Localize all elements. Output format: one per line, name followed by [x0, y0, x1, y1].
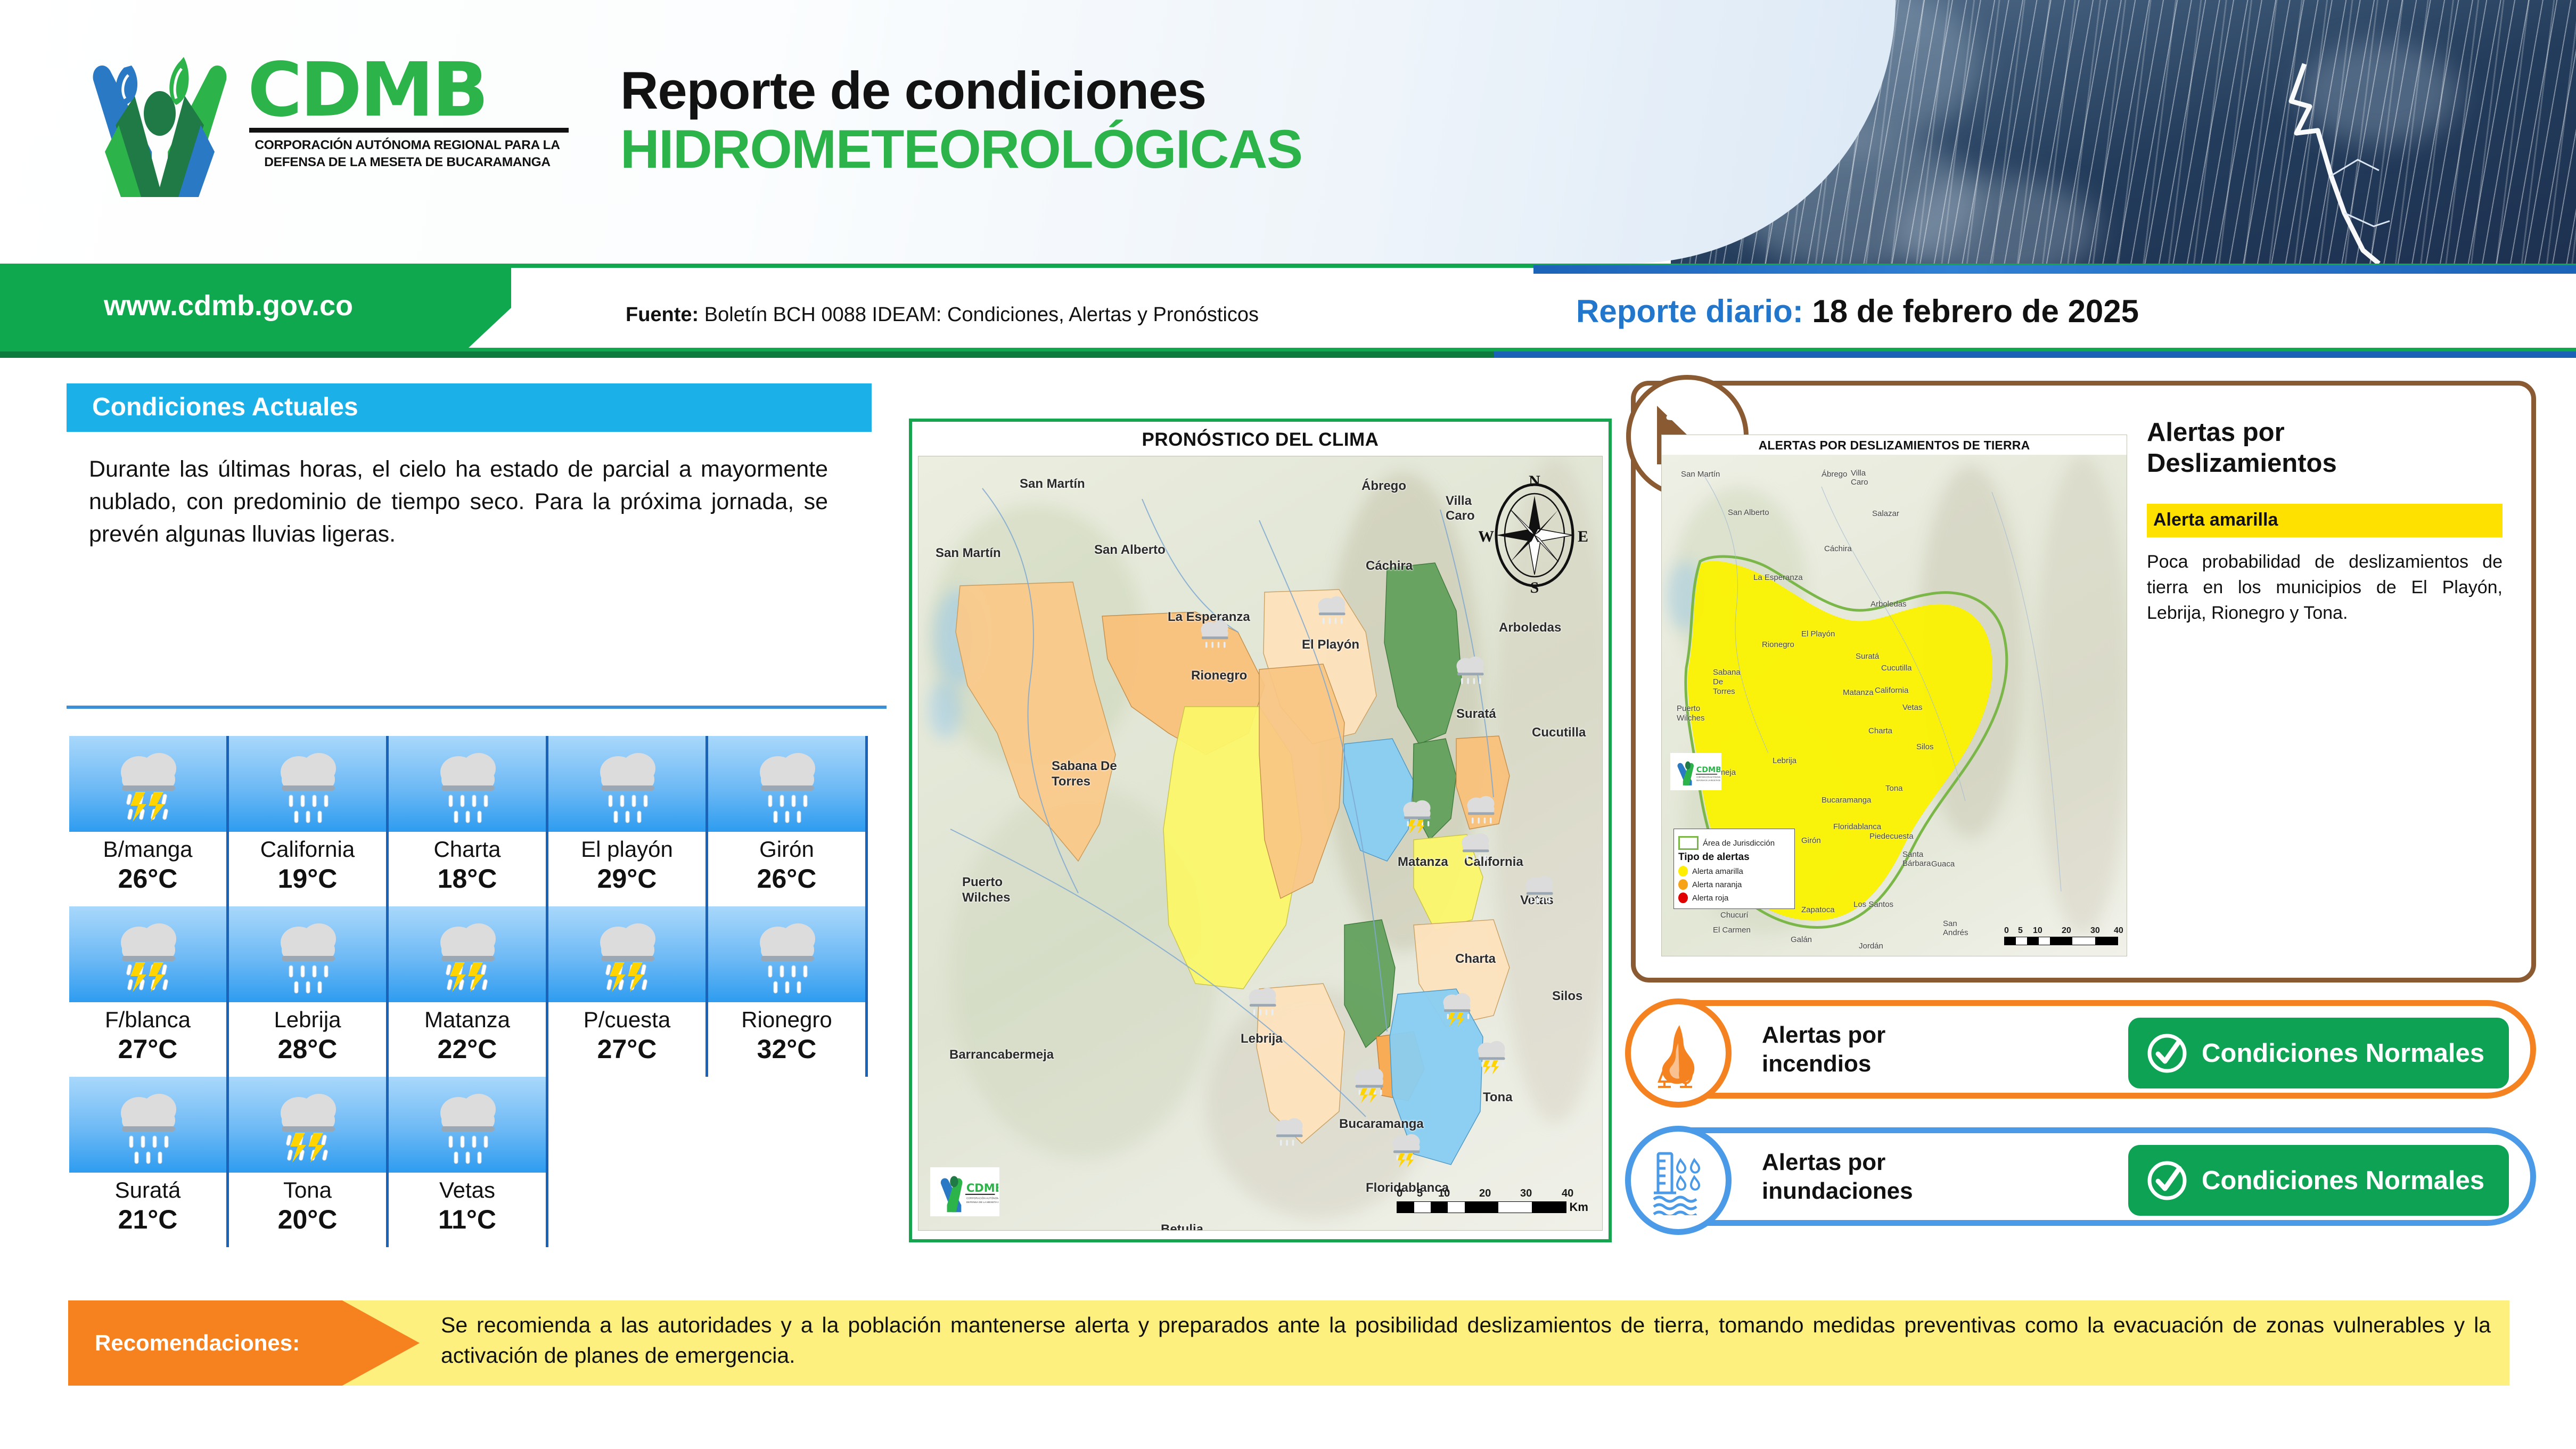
rain-icon — [708, 736, 865, 832]
report-date-value: 18 de febrero de 2025 — [1812, 293, 2139, 329]
map-label: Arboledas — [1499, 620, 1561, 635]
forecast-city: El playón — [548, 837, 705, 862]
flood-alert-label-line1: Alertas por — [1762, 1148, 1913, 1177]
forecast-city: B/manga — [69, 837, 226, 862]
logo-subtitle-line1: CORPORACIÓN AUTÓNOMA REGIONAL PARA LA — [248, 137, 567, 154]
rain-icon — [389, 1077, 546, 1173]
title-line-1: Reporte de condiciones — [620, 64, 1302, 117]
rain-icon — [69, 1077, 226, 1173]
storm-icon — [548, 906, 705, 1002]
legend-label: Área de Jurisdicción — [1703, 839, 1775, 848]
landslide-text-block: Alertas por Deslizamientos Alerta amaril… — [2147, 417, 2520, 626]
rain-icon — [1195, 616, 1234, 658]
map-label: Sabana De Torres — [1052, 759, 1121, 790]
map-label: Bucaramanga — [1339, 1117, 1424, 1132]
compass-n: N — [1529, 472, 1540, 490]
rain-icon — [1456, 829, 1495, 871]
forecast-city: P/cuesta — [548, 1008, 705, 1032]
climate-map-panel: PRONÓSTICO DEL CLIMA — [909, 419, 1612, 1242]
scale-tick-labels: 0 5 10 20 30 40 — [1397, 1188, 1588, 1200]
svg-text:DEFENSA DE LA MESETA DE BUCARA: DEFENSA DE LA MESETA DE BUCARAMANGA — [966, 1201, 998, 1204]
rain-icon — [708, 906, 865, 1002]
landslide-map-label: El Playón — [1801, 629, 1835, 638]
map-label: Betulia — [1161, 1222, 1203, 1231]
forecast-cell[interactable]: F/blanca 27°C — [69, 906, 229, 1077]
forecast-cell[interactable]: Tona 20°C — [229, 1077, 389, 1247]
forecast-grid: B/manga 26°C California — [69, 736, 901, 1247]
source-text: Fuente: Boletín BCH 0088 IDEAM: Condicio… — [626, 304, 1259, 326]
fire-alert-label: Alertas por incendios — [1762, 1021, 1885, 1078]
scale-tick: 40 — [2114, 926, 2123, 936]
landslide-map-label: Vetas — [1902, 703, 1923, 712]
svg-text:CDMB: CDMB — [966, 1181, 998, 1194]
landslide-map-label: La Esperanza — [1753, 573, 1803, 582]
forecast-temp: 26°C — [708, 864, 865, 895]
fire-icon — [1625, 998, 1732, 1108]
forecast-cell[interactable]: Suratá 21°C — [69, 1077, 229, 1247]
landslide-map-label: San Alberto — [1728, 508, 1769, 517]
landslide-legend: Área de Jurisdicción Tipo de alertas Ale… — [1673, 829, 1795, 909]
landslide-map-canvas[interactable]: San Martín Ábrego Villa Caro San Alberto… — [1662, 455, 2127, 956]
landslide-map-label: Suratá — [1856, 652, 1879, 661]
scale-tick: 5 — [2018, 926, 2023, 936]
rain-icon — [1312, 592, 1351, 634]
fire-alert-status-text: Condiciones Normales — [2202, 1038, 2484, 1068]
current-conditions-section: Condiciones Actuales Durante las últimas… — [67, 383, 897, 551]
svg-text:CDMB: CDMB — [1696, 766, 1720, 774]
landslide-map-label: Guaca — [1931, 859, 1955, 869]
recommendations-label: Recomendaciones: — [68, 1330, 300, 1356]
storm-icon — [69, 906, 226, 1002]
landslide-map-label: Rionegro — [1762, 640, 1794, 649]
scale-tick: 20 — [2062, 926, 2071, 936]
current-conditions-text: Durante las últimas horas, el cielo ha e… — [67, 432, 849, 551]
fire-alert-card[interactable]: Alertas por incendios Condiciones Normal… — [1631, 1000, 2536, 1099]
rain-icon — [548, 736, 705, 832]
forecast-cell[interactable]: B/manga 26°C — [69, 736, 229, 906]
landslide-alert-panel: ALERTAS POR DESLIZAMIENTOS DE TIERRA San… — [1631, 381, 2536, 983]
landslide-map-label: Floridablanca — [1833, 822, 1881, 831]
storm-icon — [1472, 1037, 1511, 1078]
landslide-map-label: Arboledas — [1871, 600, 1907, 609]
climate-map-canvas[interactable]: San Martín San Martín San Alberto Ábrego… — [918, 456, 1603, 1231]
landslide-map-label: California — [1875, 686, 1908, 695]
scale-tick: 0 — [1397, 1188, 1402, 1200]
forecast-temp: 18°C — [389, 864, 546, 895]
landslide-scale-bar: 0 5 10 20 30 40 — [2004, 926, 2121, 945]
landslide-map-label: Ábrego — [1822, 470, 1847, 479]
map-label: Ábrego — [1361, 479, 1406, 494]
forecast-city: Girón — [708, 837, 865, 862]
landslide-map-label: Galán — [1791, 935, 1812, 944]
forecast-city: Tona — [229, 1178, 386, 1202]
scale-strip — [1397, 1201, 1566, 1213]
landslide-map-label: Tona — [1885, 784, 1903, 793]
forecast-temp: 28°C — [229, 1034, 386, 1065]
forecast-temp: 29°C — [548, 864, 705, 895]
report-date-label: Reporte diario: — [1576, 293, 1803, 329]
scale-tick: 40 — [1562, 1188, 1573, 1200]
storm-icon — [1438, 989, 1476, 1030]
storm-icon — [69, 736, 226, 832]
rain-icon — [1520, 872, 1558, 913]
orange-alert-swatch — [1678, 879, 1688, 890]
forecast-cell[interactable]: Charta 18°C — [389, 736, 548, 906]
forecast-city: California — [229, 837, 386, 862]
recommendations-text: Se recomienda a las autoridades y a la p… — [441, 1310, 2491, 1370]
landslide-map-label: San Andrés — [1943, 919, 1964, 938]
forecast-row: F/blanca 27°C Lebrija 2 — [69, 906, 901, 1077]
alert-level-badge: Alerta amarilla — [2147, 504, 2503, 537]
landslide-heading-line1: Alertas por — [2147, 417, 2520, 448]
landslide-map-label: Piedecuesta — [1869, 832, 1914, 841]
forecast-cell[interactable]: El playón 29°C — [548, 736, 708, 906]
landslide-map-label: Cucutilla — [1881, 664, 1912, 673]
flood-alert-label-line2: inundaciones — [1762, 1177, 1913, 1206]
source-label: Fuente: — [626, 304, 699, 326]
recommendations-tag: Recomendaciones: — [68, 1300, 420, 1386]
map-label: Tona — [1483, 1090, 1513, 1105]
compass-e: E — [1578, 528, 1588, 545]
map-label: Puerto Wilches — [962, 875, 1021, 906]
map-label: Charta — [1455, 952, 1496, 967]
landslide-map-label: El Carmen — [1713, 926, 1751, 935]
forecast-temp: 27°C — [548, 1034, 705, 1065]
map-label: Suratá — [1456, 707, 1496, 722]
forecast-cell[interactable]: Rionegro 32°C — [708, 906, 868, 1077]
forecast-temp: 27°C — [69, 1034, 226, 1065]
yellow-alert-swatch — [1678, 866, 1688, 877]
forecast-cell[interactable]: California 19°C — [229, 736, 389, 906]
forecast-cell[interactable]: Girón 26°C — [708, 736, 868, 906]
logo-subtitle-line2: DEFENSA DE LA MESETA DE BUCARAMANGA — [248, 154, 567, 171]
rain-icon — [1243, 984, 1282, 1025]
landslide-map-label: Lebrija — [1773, 756, 1796, 765]
landslide-map-label: Salazar — [1872, 509, 1899, 518]
scale-unit: Km — [1570, 1200, 1588, 1214]
forecast-cell[interactable]: Vetas 11°C — [389, 1077, 548, 1247]
rain-icon — [229, 736, 386, 832]
scale-tick: 0 — [2004, 926, 2009, 936]
forecast-temp: 11°C — [389, 1205, 546, 1235]
fire-alert-label-line1: Alertas por — [1762, 1021, 1885, 1050]
report-date: Reporte diario: 18 de febrero de 2025 — [1576, 293, 2139, 330]
forecast-row: Suratá 21°C — [69, 1077, 901, 1247]
legend-types-title: Tipo de alertas — [1678, 852, 1790, 863]
landslide-map[interactable]: ALERTAS POR DESLIZAMIENTOS DE TIERRA San… — [1661, 435, 2127, 956]
landslide-map-title: ALERTAS POR DESLIZAMIENTOS DE TIERRA — [1662, 435, 2127, 455]
storm-icon — [1398, 796, 1436, 838]
check-circle-icon — [2144, 1030, 2190, 1076]
legend-item: Alerta naranja — [1678, 879, 1790, 890]
map-cdmb-logo: CDMB CORPORACIÓN AUTÓNOMA REGIONAL PARA … — [930, 1167, 999, 1216]
legend-jurisdiction-row: Área de Jurisdicción — [1678, 836, 1790, 850]
rain-icon — [1270, 1114, 1308, 1156]
landslide-map-label: Sabana De Torres — [1713, 668, 1745, 697]
red-alert-swatch — [1678, 893, 1688, 903]
scale-tick: 10 — [2033, 926, 2042, 936]
info-bar: www.cdmb.gov.co Fuente: Boletín BCH 0088… — [0, 264, 2576, 351]
forecast-temp: 21°C — [69, 1205, 226, 1235]
map-label: Cucutilla — [1532, 725, 1586, 740]
map-label: San Martín — [1020, 477, 1085, 492]
source-value: Boletín BCH 0088 IDEAM: Condiciones, Ale… — [704, 304, 1259, 326]
landslide-map-label: Cáchira — [1824, 544, 1852, 553]
map-label: Villa Caro — [1446, 494, 1483, 523]
landslide-map-label: Zapatoca — [1801, 905, 1835, 914]
scale-tick: 30 — [1520, 1188, 1532, 1200]
forecast-city: Lebrija — [229, 1008, 386, 1032]
cdmb-logo: CDMB CORPORACIÓN AUTÓNOMA REGIONAL PARA … — [72, 45, 578, 221]
storm-icon — [229, 1077, 386, 1173]
scale-tick: 30 — [2090, 926, 2100, 936]
check-circle-icon — [2144, 1158, 2190, 1204]
flood-alert-status-text: Condiciones Normales — [2202, 1166, 2484, 1196]
landslide-map-label: Villa Caro — [1851, 469, 1869, 487]
legend-label: Alerta naranja — [1692, 880, 1742, 889]
map-scale-bar: 0 5 10 20 30 40 Km — [1397, 1188, 1588, 1214]
forecast-city: Charta — [389, 837, 546, 862]
header-banner: CDMB CORPORACIÓN AUTÓNOMA REGIONAL PARA … — [0, 0, 2576, 264]
climate-map-title: PRONÓSTICO DEL CLIMA — [912, 422, 1609, 456]
legend-item: Alerta roja — [1678, 893, 1790, 903]
map-label: Matanza — [1398, 855, 1448, 870]
logo-wordmark: CDMB — [248, 55, 569, 126]
rain-icon — [1451, 652, 1489, 694]
forecast-temp: 22°C — [389, 1034, 546, 1065]
compass-rose-icon: N S W E — [1479, 472, 1590, 595]
legend-label: Alerta amarilla — [1692, 867, 1743, 876]
forecast-temp: 26°C — [69, 864, 226, 895]
forecast-city: Vetas — [389, 1178, 546, 1202]
landslide-map-cdmb-logo: CDMB CORPORACIÓN AUTÓNOMA REGIONAL DEFEN… — [1670, 753, 1721, 790]
map-label: Rionegro — [1191, 668, 1247, 683]
map-label: Silos — [1552, 989, 1582, 1004]
page-title: Reporte de condiciones HIDROMETEOROLÓGIC… — [620, 64, 1302, 178]
storm-icon — [1387, 1130, 1425, 1172]
map-label: San Alberto — [1094, 543, 1166, 558]
divider-rule — [0, 351, 2576, 358]
landslide-heading-line2: Deslizamientos — [2147, 448, 2520, 479]
scale-tick: 10 — [1438, 1188, 1450, 1200]
landslide-map-label: Puerto Wilches — [1677, 704, 1707, 723]
landslide-map-label: Santa Bárbara — [1902, 850, 1925, 869]
rain-icon — [229, 906, 386, 1002]
landslide-map-label: Bucaramanga — [1822, 796, 1871, 805]
landslide-description: Poca probabilidad de deslizamientos de t… — [2147, 549, 2503, 626]
section-heading: Condiciones Actuales — [67, 383, 872, 432]
forecast-temp: 20°C — [229, 1205, 386, 1235]
landslide-map-label: San Martín — [1681, 470, 1720, 479]
forecast-cell[interactable]: P/cuesta 27°C — [548, 906, 708, 1077]
forecast-row: B/manga 26°C California — [69, 736, 901, 906]
legend-item: Alerta amarilla — [1678, 866, 1790, 877]
compass-s: S — [1530, 579, 1539, 595]
svg-text:DEFENSA DE LA MESETA DE BUCARA: DEFENSA DE LA MESETA DE BUCARAMANGA — [1696, 780, 1720, 782]
landslide-map-label: Girón — [1801, 836, 1821, 845]
flood-alert-status: Condiciones Normales — [2128, 1145, 2509, 1216]
website-link[interactable]: www.cdmb.gov.co — [104, 289, 353, 322]
compass-w: W — [1479, 528, 1494, 545]
map-label: El Playón — [1302, 637, 1359, 652]
forecast-cell[interactable]: Matanza 22°C — [389, 906, 548, 1077]
flood-icon — [1625, 1126, 1732, 1235]
forecast-city: Suratá — [69, 1178, 226, 1202]
storm-icon — [1349, 1063, 1389, 1107]
scale-tick: 5 — [1417, 1188, 1423, 1200]
svg-text:CORPORACIÓN AUTÓNOMA REGIONAL: CORPORACIÓN AUTÓNOMA REGIONAL PARA LA — [966, 1196, 998, 1200]
cdmb-logo-mark — [72, 45, 248, 200]
rain-icon — [389, 736, 546, 832]
flood-alert-label: Alertas por inundaciones — [1762, 1148, 1913, 1205]
map-label: San Martín — [936, 546, 1001, 561]
fire-alert-status: Condiciones Normales — [2128, 1018, 2509, 1088]
storm-icon — [389, 906, 546, 1002]
landslide-map-label: Los Santos — [1853, 900, 1893, 909]
landslide-map-label: Jordán — [1859, 942, 1883, 951]
map-label: Barrancabermeja — [949, 1047, 1054, 1062]
landslide-map-label: Silos — [1916, 742, 1934, 751]
flood-alert-card[interactable]: Alertas por inundaciones Condiciones Nor… — [1631, 1127, 2536, 1226]
forecast-temp: 19°C — [229, 864, 386, 895]
landslide-map-label: Charta — [1868, 726, 1892, 735]
forecast-city: Rionegro — [708, 1008, 865, 1032]
svg-text:CORPORACIÓN AUTÓNOMA REGIONAL: CORPORACIÓN AUTÓNOMA REGIONAL — [1696, 776, 1720, 779]
fire-alert-label-line2: incendios — [1762, 1050, 1885, 1078]
jurisdiction-swatch — [1678, 836, 1699, 850]
map-label: Cáchira — [1366, 559, 1413, 574]
title-line-2: HIDROMETEOROLÓGICAS — [620, 121, 1302, 178]
top-blue-rule — [1533, 265, 2576, 274]
landslide-map-label: Matanza — [1843, 688, 1874, 697]
forecast-city: F/blanca — [69, 1008, 226, 1032]
forecast-city: Matanza — [389, 1008, 546, 1032]
legend-label: Alerta roja — [1692, 894, 1728, 903]
left-divider — [67, 706, 887, 709]
recommendations-bar: Recomendaciones: Se recomienda a las aut… — [68, 1300, 2509, 1386]
forecast-cell[interactable]: Lebrija 28°C — [229, 906, 389, 1077]
map-label: Lebrija — [1241, 1032, 1283, 1046]
rain-icon — [1462, 792, 1500, 833]
forecast-temp: 32°C — [708, 1034, 865, 1065]
scale-tick: 20 — [1479, 1188, 1491, 1200]
